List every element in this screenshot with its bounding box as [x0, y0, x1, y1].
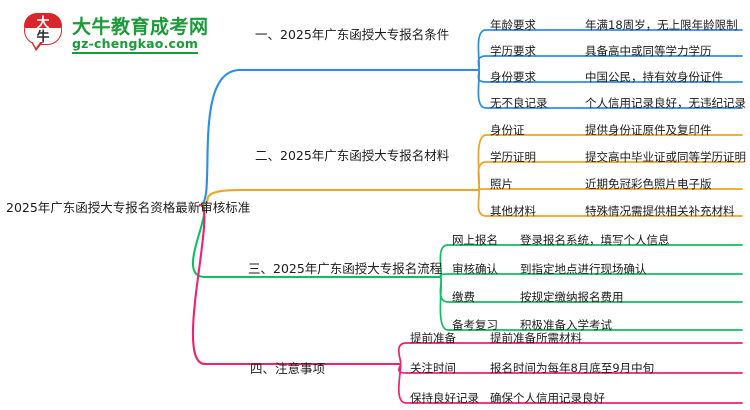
mindmap-leaf-value-3-1: 登录报名系统，填写个人信息 [520, 232, 670, 248]
mindmap-leaf-value-4-1: 提前准备所需材料 [490, 330, 582, 346]
mindmap-leaf-value-2-1: 提供身份证原件及复印件 [585, 122, 712, 138]
mindmap-leaf-key-4-1: 提前准备 [410, 330, 456, 346]
mindmap-leaf-key-1-1: 年龄要求 [490, 17, 536, 33]
mindmap-leaf-value-1-2: 具备高中或同等学力学历 [585, 43, 712, 59]
mindmap-leaf-key-1-2: 学历要求 [490, 43, 536, 59]
mindmap-leaf-value-2-2: 提交高中毕业证或同等学历证明 [585, 149, 746, 165]
mindmap-leaf-key-2-2: 学历证明 [490, 149, 536, 165]
mindmap-leaf-key-4-2: 关注时间 [410, 360, 456, 376]
mindmap-leaf-value-3-2: 到指定地点进行现场确认 [520, 261, 647, 277]
mindmap-leaf-value-1-1: 年满18周岁，无上限年龄限制 [585, 17, 738, 33]
mindmap-leaf-value-4-2: 报名时间为每年8月底至9月中旬 [490, 360, 654, 376]
mindmap-leaf-key-2-4: 其他材料 [490, 203, 536, 219]
mindmap-root-label: 2025年广东函授大专报名资格最新审核标准 [6, 197, 250, 216]
mindmap-leaf-value-3-3: 按规定缴纳报名费用 [520, 289, 624, 305]
mindmap-leaf-value-2-3: 近期免冠彩色照片电子版 [585, 176, 712, 192]
mindmap-leaf-key-3-1: 网上报名 [452, 232, 498, 248]
mindmap-leaf-value-4-3: 确保个人信用记录良好 [490, 390, 605, 406]
mindmap-leaf-key-1-3: 身份要求 [490, 69, 536, 85]
mindmap-leaf-value-1-4: 个人信用记录良好，无违纪记录 [585, 95, 746, 111]
mindmap-branch-label-1: 一、2025年广东函授大专报名条件 [255, 24, 449, 43]
mindmap-branch-label-2: 二、2025年广东函授大专报名材料 [255, 145, 449, 164]
mindmap-leaf-key-2-3: 照片 [490, 176, 513, 192]
mindmap-leaf-key-3-2: 审核确认 [452, 261, 498, 277]
mindmap-leaf-value-2-4: 特殊情况需提供相关补充材料 [585, 203, 735, 219]
mindmap-canvas: 大 牛 大牛教育成考网 gz-chengkao.com 2025年广东函授大专报… [0, 0, 750, 410]
mindmap-leaf-key-3-3: 缴费 [452, 289, 475, 305]
mindmap-leaf-key-2-1: 身份证 [490, 122, 525, 138]
mindmap-leaf-value-1-3: 中国公民，持有效身份证件 [585, 69, 723, 85]
mindmap-leaf-key-1-4: 无不良记录 [490, 95, 548, 111]
mindmap-branch-label-3: 三、2025年广东函授大专报名流程 [248, 258, 442, 277]
mindmap-branch-label-4: 四、注意事项 [250, 358, 325, 377]
mindmap-leaf-key-4-3: 保持良好记录 [410, 390, 479, 406]
